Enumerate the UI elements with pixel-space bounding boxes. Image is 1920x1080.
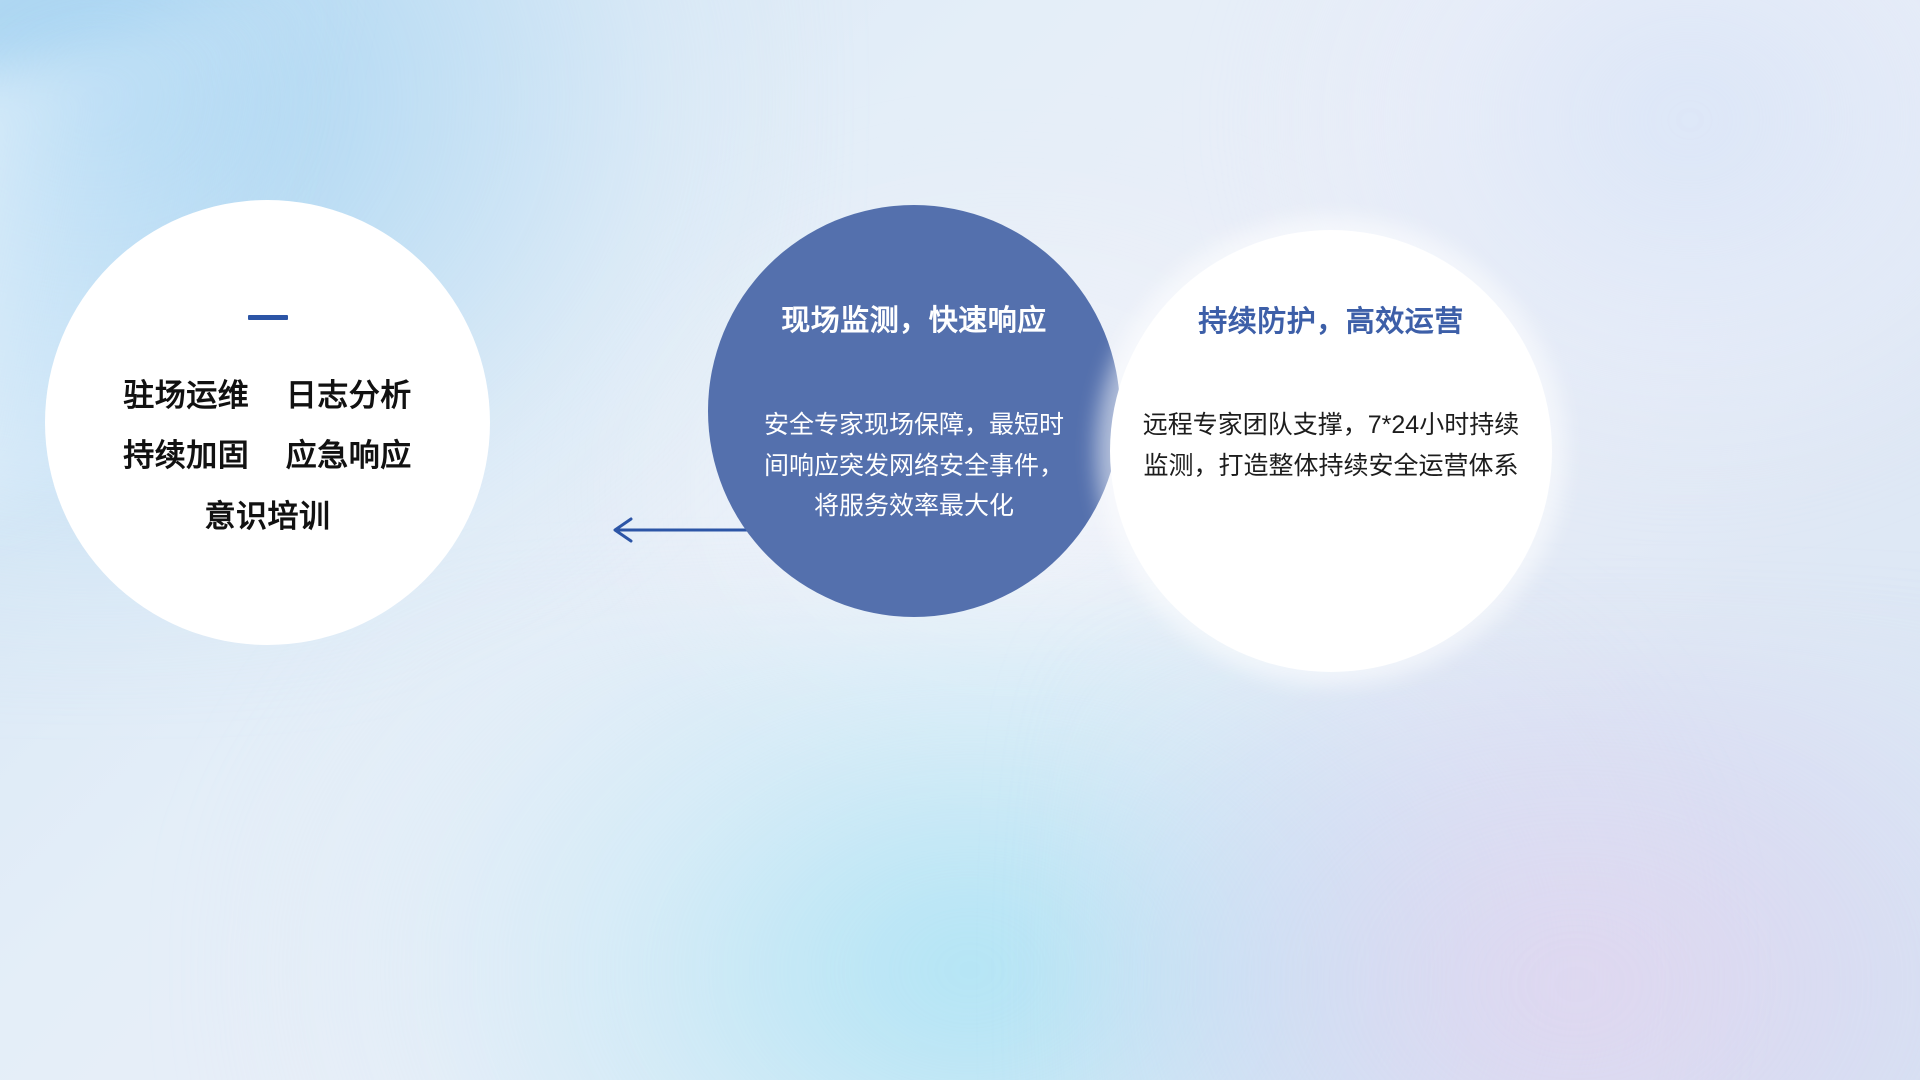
middle-feature-circle: 现场监测，快速响应 安全专家现场保障，最短时间响应突发网络安全事件，将服务效率最…	[708, 205, 1120, 617]
left-keyword-line-3: 意识培训	[123, 487, 411, 547]
slide-canvas: 驻场运维 日志分析 持续加固 应急响应 意识培训 现场监测，快速响应 安全专家现…	[0, 0, 1920, 1080]
left-keyword-list: 驻场运维 日志分析 持续加固 应急响应 意识培训	[123, 366, 411, 547]
left-keyword-line-2: 持续加固 应急响应	[123, 426, 411, 486]
right-feature-circle: 持续防护，高效运营 远程专家团队支撑，7*24小时持续监测，打造整体持续安全运营…	[1110, 230, 1552, 672]
divider-dash	[248, 315, 288, 320]
middle-circle-body: 安全专家现场保障，最短时间响应突发网络安全事件，将服务效率最大化	[762, 405, 1066, 527]
background-glow-bottom-right	[1070, 640, 1920, 1080]
left-keyword-line-1: 驻场运维 日志分析	[123, 366, 411, 426]
middle-circle-title: 现场监测，快速响应	[708, 297, 1120, 339]
left-summary-circle: 驻场运维 日志分析 持续加固 应急响应 意识培训	[45, 200, 490, 645]
right-circle-title: 持续防护，高效运营	[1110, 298, 1552, 340]
right-circle-body: 远程专家团队支撑，7*24小时持续监测，打造整体持续安全运营体系	[1132, 405, 1530, 486]
